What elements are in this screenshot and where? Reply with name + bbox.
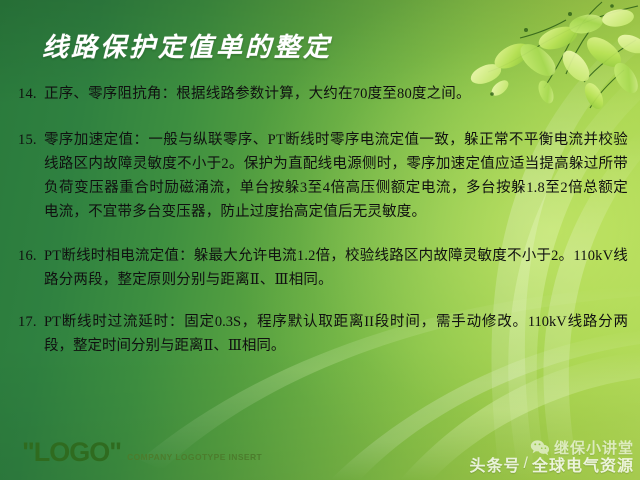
footer-logo: "LOGO" COMPANY LOGOTYPE INSERT [22, 439, 262, 466]
watermark-source: 头条号 [470, 452, 521, 476]
list-item-text: 正序、零序阻抗角：根据线路参数计算，大约在70度至80度之间。 [44, 86, 471, 102]
list-item-number: 15. [18, 128, 37, 152]
list-item-text: PT断线时相电流定值：躲最大允许电流1.2倍，校验线路区内故障灵敏度不小于2。1… [44, 248, 628, 288]
list-item-text: 零序加速定值：一般与纵联零序、PT断线时零序电流定值一致，躲正常不平衡电流并校验… [44, 132, 628, 220]
list-item-number: 14. [18, 82, 37, 106]
list-item-number: 17. [18, 310, 37, 334]
list-item: 15. 零序加速定值：一般与纵联零序、PT断线时零序电流定值一致，躲正常不平衡电… [18, 128, 628, 224]
watermark-brand: 继保小讲堂 [554, 437, 634, 458]
wechat-icon [530, 439, 550, 456]
list-item-text: PT断线时过流延时：固定0.3S，程序默认取距离II段时间，需手动修改。110k… [44, 314, 628, 354]
watermark-separator: / [524, 455, 529, 473]
logo-subtitle: COMPANY LOGOTYPE INSERT [127, 451, 262, 466]
watermark: 继保小讲堂 头条号 / 全球电气资源 [470, 437, 634, 476]
watermark-source-row: 头条号 / 全球电气资源 [470, 452, 634, 476]
list-item: 16. PT断线时相电流定值：躲最大允许电流1.2倍，校验线路区内故障灵敏度不小… [18, 244, 628, 292]
slide-canvas: 线路保护定值单的整定 14. 正序、零序阻抗角：根据线路参数计算，大约在70度至… [0, 0, 640, 480]
logo-mark: "LOGO" [22, 439, 121, 466]
watermark-site: 全球电气资源 [532, 452, 634, 476]
page-title: 线路保护定值单的整定 [42, 31, 332, 65]
list-item: 17. PT断线时过流延时：固定0.3S，程序默认取距离II段时间，需手动修改。… [18, 310, 628, 358]
content-list: 14. 正序、零序阻抗角：根据线路参数计算，大约在70度至80度之间。 15. … [18, 82, 628, 358]
list-item: 14. 正序、零序阻抗角：根据线路参数计算，大约在70度至80度之间。 [18, 82, 628, 106]
list-item-number: 16. [18, 244, 37, 268]
watermark-brand-row: 继保小讲堂 [530, 437, 634, 458]
